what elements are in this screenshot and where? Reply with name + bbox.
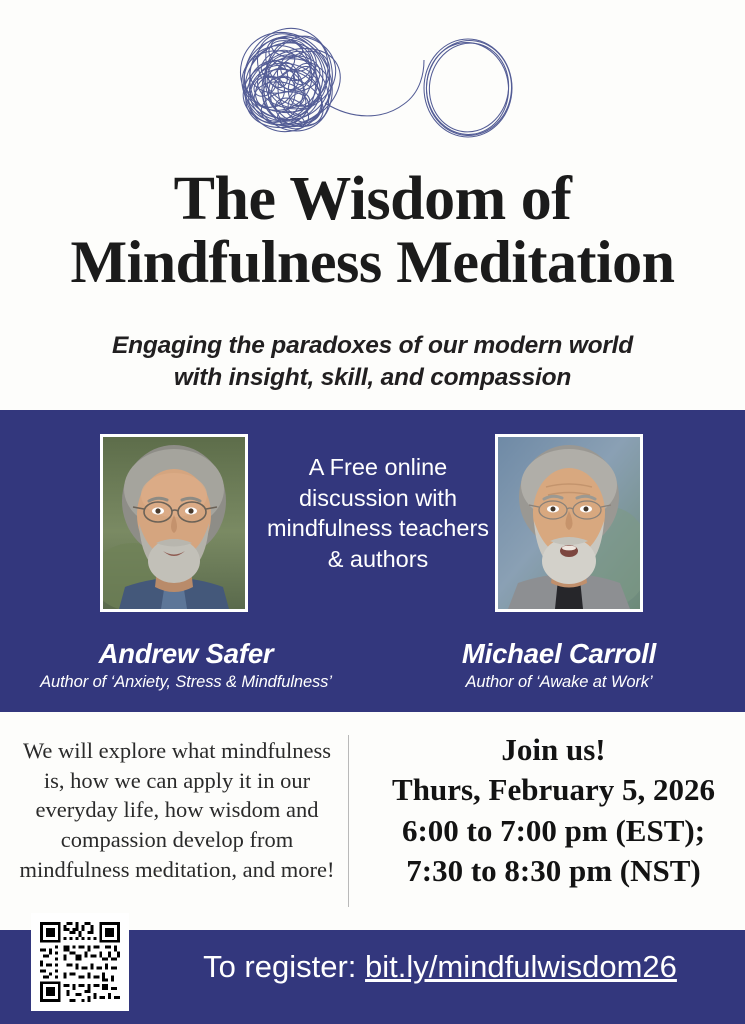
speaker-michael-carroll: Michael Carroll Author of ‘Awake at Work… (373, 638, 745, 692)
register-label: To register: (203, 949, 356, 984)
subtitle-line-1: Engaging the paradoxes of our modern wor… (0, 330, 745, 362)
subtitle: Engaging the paradoxes of our modern wor… (0, 330, 745, 395)
photo-andrew-safer (100, 434, 248, 612)
speaker-name: Andrew Safer (0, 638, 372, 670)
event-time-est: 6:00 to 7:00 pm (EST); (362, 811, 745, 851)
event-description-center: A Free online discussion with mindfulnes… (266, 452, 490, 574)
title-line-1: The Wisdom of (0, 168, 745, 232)
registration-link[interactable]: bit.ly/mindfulwisdom26 (365, 949, 677, 984)
qr-code-registration[interactable] (31, 913, 129, 1011)
event-poster: The Wisdom of Mindfulness Meditation Eng… (0, 0, 745, 1024)
speakers-band: A Free online discussion with mindfulnes… (0, 410, 745, 712)
tangled-scribble-to-circle-illustration (0, 8, 745, 158)
speaker-name: Michael Carroll (373, 638, 745, 670)
vertical-divider (348, 735, 349, 907)
event-date: Thurs, February 5, 2026 (362, 770, 745, 810)
speaker-credit: Author of ‘Awake at Work’ (373, 673, 745, 693)
event-time-nst: 7:30 to 8:30 pm (NST) (362, 851, 745, 891)
subtitle-line-2: with insight, skill, and compassion (0, 362, 745, 394)
session-description: We will explore what mindfulness is, how… (14, 736, 340, 884)
photo-michael-carroll (495, 434, 643, 612)
speaker-andrew-safer: Andrew Safer Author of ‘Anxiety, Stress … (0, 638, 372, 692)
page-title: The Wisdom of Mindfulness Meditation (0, 168, 745, 294)
join-us-heading: Join us! (362, 730, 745, 770)
registration-line: To register: bit.ly/mindfulwisdom26 (150, 948, 730, 985)
speaker-credit: Author of ‘Anxiety, Stress & Mindfulness… (0, 673, 372, 693)
title-line-2: Mindfulness Meditation (0, 232, 745, 294)
event-datetime: Join us! Thurs, February 5, 2026 6:00 to… (362, 730, 745, 891)
